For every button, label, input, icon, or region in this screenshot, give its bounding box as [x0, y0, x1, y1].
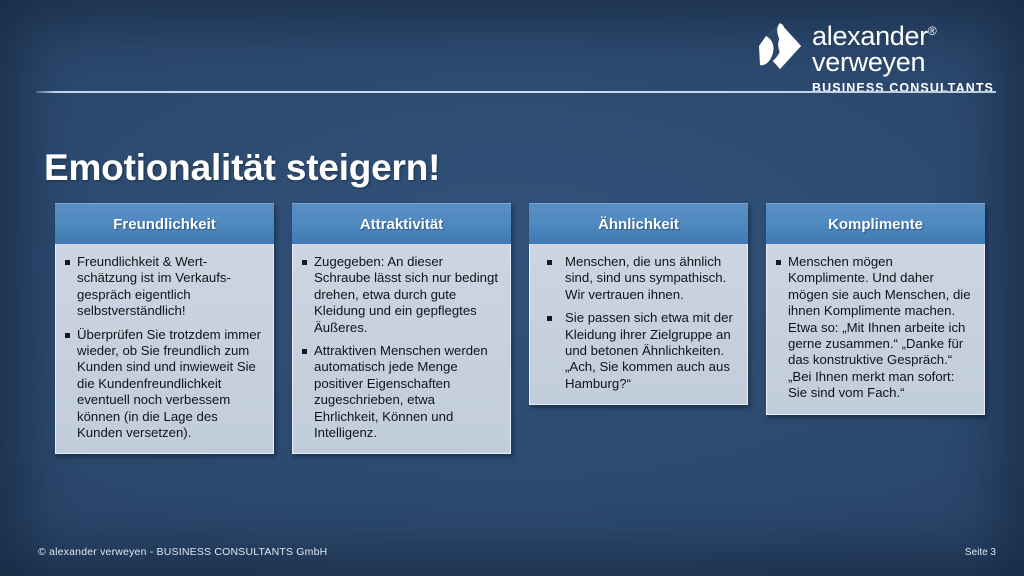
- header-divider: [36, 91, 996, 93]
- column-heading: Ähnlichkeit: [529, 203, 748, 244]
- list-item-text: Zugegeben: An dieser Schraube lässt sich…: [314, 254, 501, 336]
- square-bullet-icon: [302, 349, 307, 354]
- column-aehnlichkeit: Ähnlichkeit Menschen, die uns ähnlich si…: [529, 203, 748, 405]
- footer-copyright: © alexander verweyen - BUSINESS CONSULTA…: [38, 546, 327, 558]
- logo-name-line1: alexander®: [812, 18, 994, 49]
- square-bullet-icon: [65, 260, 70, 265]
- list-item: Sie passen sich etwa mit der Kleidung ih…: [539, 310, 738, 392]
- column-body: Freundlichkeit & Wert-schätzung ist im V…: [55, 244, 274, 454]
- list-item-text: Überprüfen Sie trotzdem immer wieder, ob…: [77, 327, 264, 442]
- column-group: Freundlichkeit Freundlichkeit & Wert-sch…: [55, 203, 977, 454]
- square-bullet-icon: [65, 333, 70, 338]
- list-item: Überprüfen Sie trotzdem immer wieder, ob…: [65, 327, 264, 442]
- square-bullet-icon: [302, 260, 307, 265]
- list-item: Zugegeben: An dieser Schraube lässt sich…: [302, 254, 501, 336]
- column-body: Menschen mögen Komplimente. Und daher mö…: [766, 244, 985, 415]
- company-logo: alexander® verweyen BUSINESS CONSULTANTS: [758, 18, 994, 95]
- footer-page-number: Seite 3: [965, 547, 996, 558]
- column-freundlichkeit: Freundlichkeit Freundlichkeit & Wert-sch…: [55, 203, 274, 454]
- list-item: Freundlichkeit & Wert-schätzung ist im V…: [65, 254, 264, 320]
- column-attraktivitaet: Attraktivität Zugegeben: An dieser Schra…: [292, 203, 511, 454]
- list-item: Menschen mögen Komplimente. Und daher mö…: [776, 254, 975, 402]
- logo-wordmark: alexander® verweyen BUSINESS CONSULTANTS: [812, 18, 994, 95]
- list-item-text: Freundlichkeit & Wert-schätzung ist im V…: [77, 254, 264, 320]
- list-item-text: Menschen, die uns ähnlich sind, sind uns…: [565, 254, 738, 303]
- presentation-slide: alexander® verweyen BUSINESS CONSULTANTS…: [0, 0, 1024, 576]
- list-item-text: Sie passen sich etwa mit der Kleidung ih…: [565, 310, 738, 392]
- column-komplimente: Komplimente Menschen mögen Komplimente. …: [766, 203, 985, 415]
- column-body: Menschen, die uns ähnlich sind, sind uns…: [529, 244, 748, 405]
- list-item-text: Menschen mögen Komplimente. Und daher mö…: [788, 254, 975, 402]
- diamond-swirl-logo-icon: [758, 22, 802, 70]
- list-item-text: Attraktiven Menschen werden automatisch …: [314, 343, 501, 441]
- square-bullet-icon: [547, 260, 552, 265]
- square-bullet-icon: [547, 316, 552, 321]
- page-title: Emotionalität steigern!: [44, 147, 440, 189]
- column-heading: Komplimente: [766, 203, 985, 244]
- column-body: Zugegeben: An dieser Schraube lässt sich…: [292, 244, 511, 454]
- square-bullet-icon: [776, 260, 781, 265]
- logo-name-line2: verweyen: [812, 49, 994, 75]
- registered-trademark-icon: ®: [928, 24, 937, 38]
- column-heading: Freundlichkeit: [55, 203, 274, 244]
- list-item: Menschen, die uns ähnlich sind, sind uns…: [539, 254, 738, 303]
- column-heading: Attraktivität: [292, 203, 511, 244]
- list-item: Attraktiven Menschen werden automatisch …: [302, 343, 501, 441]
